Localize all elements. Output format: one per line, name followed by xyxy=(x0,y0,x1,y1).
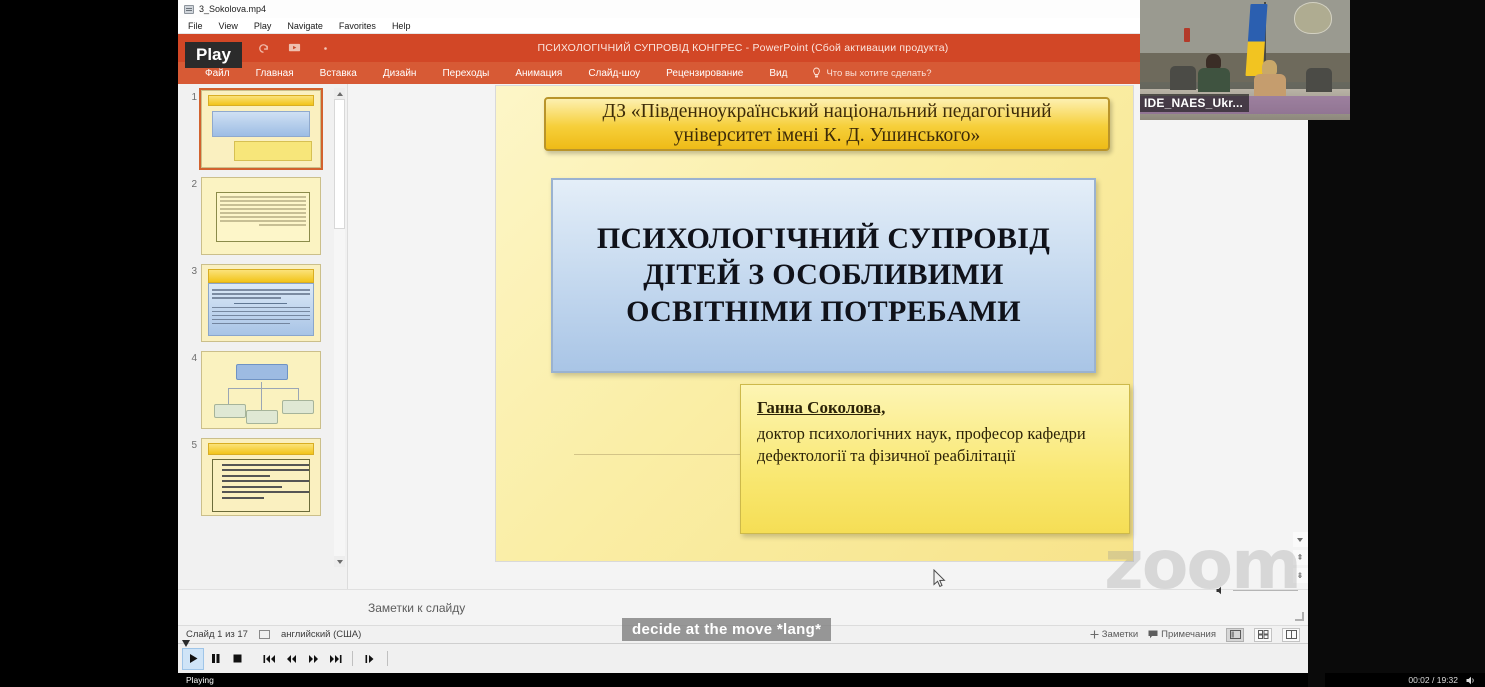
menu-item-play[interactable]: Play xyxy=(254,21,272,31)
menu-item-file[interactable]: File xyxy=(188,21,203,31)
rewind-icon xyxy=(285,654,298,664)
list-item[interactable]: 5 xyxy=(186,438,343,516)
slide-thumbnail-4[interactable] xyxy=(201,351,321,429)
person-body xyxy=(1198,68,1230,92)
player-controls xyxy=(178,643,1308,673)
tell-me-label: Что вы хотите сделать? xyxy=(826,68,931,79)
comments-toggle-button[interactable]: Примечания xyxy=(1148,629,1216,640)
slide-thumbnail-1[interactable] xyxy=(201,90,321,168)
thumb-diagram-node xyxy=(214,404,246,418)
scroll-down-button[interactable] xyxy=(334,556,345,567)
thumb-bullet-list xyxy=(212,459,310,512)
thumb-number: 4 xyxy=(186,351,197,429)
thumb-text-lines xyxy=(220,196,306,238)
thumb-text-lines xyxy=(212,287,310,332)
list-item[interactable]: 1 xyxy=(186,90,343,168)
mute-icon[interactable] xyxy=(1466,676,1477,685)
author-name: Ганна Соколова, xyxy=(757,398,1113,418)
coat-of-arms-icon xyxy=(1294,2,1332,34)
ppt-document-title: ПСИХОЛОГІЧНИЙ СУПРОВІД КОНГРЕС - PowerPo… xyxy=(178,42,1308,54)
thumb-diagram-root xyxy=(236,364,288,380)
tab-home[interactable]: Главная xyxy=(243,68,307,79)
left-letterbox xyxy=(0,0,178,687)
speaker-icon xyxy=(1216,586,1227,595)
menu-item-navigate[interactable]: Navigate xyxy=(287,21,323,31)
player-status-bar: Playing xyxy=(178,673,1308,687)
tell-me-box[interactable]: Что вы хотите сделать? xyxy=(812,67,931,79)
player-status-text: Playing xyxy=(186,675,214,685)
thumb-quote-block xyxy=(216,192,310,242)
comment-bubble-icon xyxy=(1148,630,1158,639)
previous-slide-button[interactable]: ⇞ xyxy=(1293,550,1308,565)
volume-slider-track[interactable] xyxy=(1233,590,1298,591)
reading-view-icon xyxy=(1286,630,1297,639)
slide-sorter-icon xyxy=(1258,630,1269,639)
slide-thumbnail-list: 1 2 xyxy=(178,84,347,589)
chair xyxy=(1170,66,1196,90)
status-left-group: Слайд 1 из 17 английский (США) xyxy=(186,629,361,640)
tab-review[interactable]: Рецензирование xyxy=(653,68,756,79)
thumb-diagram-edge xyxy=(228,388,298,389)
slide-thumbnail-3[interactable] xyxy=(201,264,321,342)
fire-extinguisher xyxy=(1184,28,1190,42)
author-role: доктор психологічних наук, професор кафе… xyxy=(757,423,1113,467)
player-file-name: 3_Sokolova.mp4 xyxy=(199,4,266,14)
slide-thumbnail-pane: 1 2 xyxy=(178,84,348,589)
slide-main-title[interactable]: ПСИХОЛОГІЧНИЙ СУПРОВІД ДІТЕЙ З ОСОБЛИВИМ… xyxy=(551,178,1096,373)
mouse-cursor-icon xyxy=(933,569,946,588)
thumb-number: 3 xyxy=(186,264,197,342)
ppt-titlebar: ПСИХОЛОГІЧНИЙ СУПРОВІД КОНГРЕС - PowerPo… xyxy=(178,34,1308,62)
slide-author-box[interactable]: Ганна Соколова, доктор психологічних нау… xyxy=(740,384,1130,534)
player-menubar: File View Play Navigate Favorites Help xyxy=(178,18,1308,34)
thumb-number: 2 xyxy=(186,177,197,255)
slide-scrollbar[interactable]: ⇞ ⇟ xyxy=(1292,84,1308,589)
thumb-header-band xyxy=(208,269,314,283)
video-time: 00:02 / 19:32 xyxy=(1408,675,1458,685)
slide-thumbnail-5[interactable] xyxy=(201,438,321,516)
thumb-header-band xyxy=(208,443,314,455)
ppt-ribbon-tabs: Файл Главная Вставка Дизайн Переходы Ани… xyxy=(178,62,1308,84)
skip-forward-icon xyxy=(329,654,342,664)
scroll-up-button[interactable] xyxy=(334,88,345,99)
stop-button[interactable] xyxy=(226,648,248,670)
participant-name-label: IDE_NAES_Ukr... xyxy=(1140,94,1249,112)
play-tooltip: Play xyxy=(185,42,242,68)
menu-item-view[interactable]: View xyxy=(219,21,238,31)
notes-placeholder: Заметки к слайду xyxy=(368,601,465,615)
scrollbar-track[interactable] xyxy=(334,99,345,556)
slide-counter[interactable]: Слайд 1 из 17 xyxy=(186,629,248,640)
list-item[interactable]: 4 xyxy=(186,351,343,429)
tab-slideshow[interactable]: Слайд-шоу xyxy=(575,68,653,79)
chevron-up-icon xyxy=(337,92,343,96)
thumb-diagram-node xyxy=(282,400,314,414)
menu-item-favorites[interactable]: Favorites xyxy=(339,21,376,31)
toolbar-divider xyxy=(352,651,353,666)
skip-forward-button[interactable] xyxy=(324,648,346,670)
thumb-diagram-edge xyxy=(261,382,262,410)
lightbulb-icon xyxy=(812,67,821,79)
toolbar-divider xyxy=(387,651,388,666)
thumb-diagram-node xyxy=(246,410,278,424)
customize-qat-icon[interactable] xyxy=(319,42,332,55)
notes-icon xyxy=(1090,630,1099,639)
reading-view-button[interactable] xyxy=(1282,628,1300,642)
chevron-down-icon xyxy=(1297,538,1303,542)
redo-icon[interactable] xyxy=(257,42,270,55)
start-slideshow-icon[interactable] xyxy=(288,42,301,55)
media-player-window: 3_Sokolova.mp4 File View Play Navigate F… xyxy=(178,0,1308,687)
tab-design[interactable]: Дизайн xyxy=(370,68,430,79)
rewind-button[interactable] xyxy=(280,648,302,670)
thumb-diagram-edge xyxy=(298,388,299,400)
player-titlebar: 3_Sokolova.mp4 xyxy=(178,0,1308,18)
slide-divider-line xyxy=(574,454,744,455)
film-icon xyxy=(184,5,194,14)
tab-transitions[interactable]: Переходы xyxy=(429,68,502,79)
participant-video-tile[interactable]: IDE_NAES_Ukr... xyxy=(1140,0,1350,120)
fast-forward-icon xyxy=(307,654,320,664)
stop-icon xyxy=(232,653,243,664)
chair xyxy=(1306,68,1332,92)
thumb-header-band xyxy=(208,95,314,106)
language-indicator[interactable]: английский (США) xyxy=(281,629,361,640)
tab-file[interactable]: Файл xyxy=(192,68,243,79)
skip-back-icon xyxy=(263,654,276,664)
live-caption-overlay: decide at the move *lang* xyxy=(622,618,831,641)
step-frame-button[interactable] xyxy=(359,648,381,670)
comments-toggle-label: Примечания xyxy=(1161,629,1216,640)
screen: 3_Sokolova.mp4 File View Play Navigate F… xyxy=(0,0,1485,687)
status-right-group: Заметки Примечания xyxy=(1090,628,1300,642)
thumb-author-block xyxy=(234,141,312,161)
step-frame-icon xyxy=(364,654,377,664)
slide-canvas-area: ДЗ «Південноукраїнський національний пед… xyxy=(348,84,1308,589)
double-chevron-down-icon: ⇟ xyxy=(1297,572,1304,580)
chevron-down-icon xyxy=(337,560,343,564)
scroll-down-button[interactable] xyxy=(1293,532,1308,547)
fast-forward-button[interactable] xyxy=(302,648,324,670)
ppt-workspace: 1 2 xyxy=(178,84,1308,589)
list-item[interactable]: 3 xyxy=(186,264,343,342)
tab-view[interactable]: Вид xyxy=(756,68,800,79)
normal-view-button[interactable] xyxy=(1226,628,1244,642)
thumb-title-block xyxy=(212,111,310,137)
play-button[interactable] xyxy=(182,648,204,670)
double-chevron-up-icon: ⇞ xyxy=(1297,554,1304,562)
notes-toggle-button[interactable]: Заметки xyxy=(1090,629,1138,640)
play-icon xyxy=(188,653,199,664)
tile-right-filler xyxy=(1350,0,1485,120)
skip-back-button[interactable] xyxy=(258,648,280,670)
thumb-number: 5 xyxy=(186,438,197,516)
resize-grip-icon[interactable] xyxy=(1295,612,1304,621)
seek-handle-icon[interactable] xyxy=(182,640,190,648)
thumb-diagram-edge xyxy=(228,388,229,404)
tab-animations[interactable]: Анимация xyxy=(502,68,575,79)
video-volume-control[interactable] xyxy=(1216,581,1298,599)
normal-view-icon xyxy=(1230,630,1241,639)
slide-sorter-view-button[interactable] xyxy=(1254,628,1272,642)
pause-icon xyxy=(210,653,221,664)
pause-button[interactable] xyxy=(204,648,226,670)
thumb-content-block xyxy=(208,283,314,336)
thumbnail-scrollbar[interactable] xyxy=(334,88,345,567)
thumb-number: 1 xyxy=(186,90,197,168)
menu-item-help[interactable]: Help xyxy=(392,21,411,31)
slide-thumbnail-2[interactable] xyxy=(201,177,321,255)
spellcheck-icon[interactable] xyxy=(259,630,270,639)
notes-toggle-label: Заметки xyxy=(1102,629,1138,640)
video-time-bar: 00:02 / 19:32 xyxy=(1325,673,1485,687)
slide-institution-banner[interactable]: ДЗ «Південноукраїнський національний пед… xyxy=(544,97,1110,151)
current-slide[interactable]: ДЗ «Південноукраїнський національний пед… xyxy=(496,86,1133,561)
person-body xyxy=(1254,74,1286,96)
scrollbar-thumb[interactable] xyxy=(334,99,345,229)
list-item[interactable]: 2 xyxy=(186,177,343,255)
tab-insert[interactable]: Вставка xyxy=(307,68,370,79)
video-content-powerpoint: ПСИХОЛОГІЧНИЙ СУПРОВІД КОНГРЕС - PowerPo… xyxy=(178,34,1308,643)
